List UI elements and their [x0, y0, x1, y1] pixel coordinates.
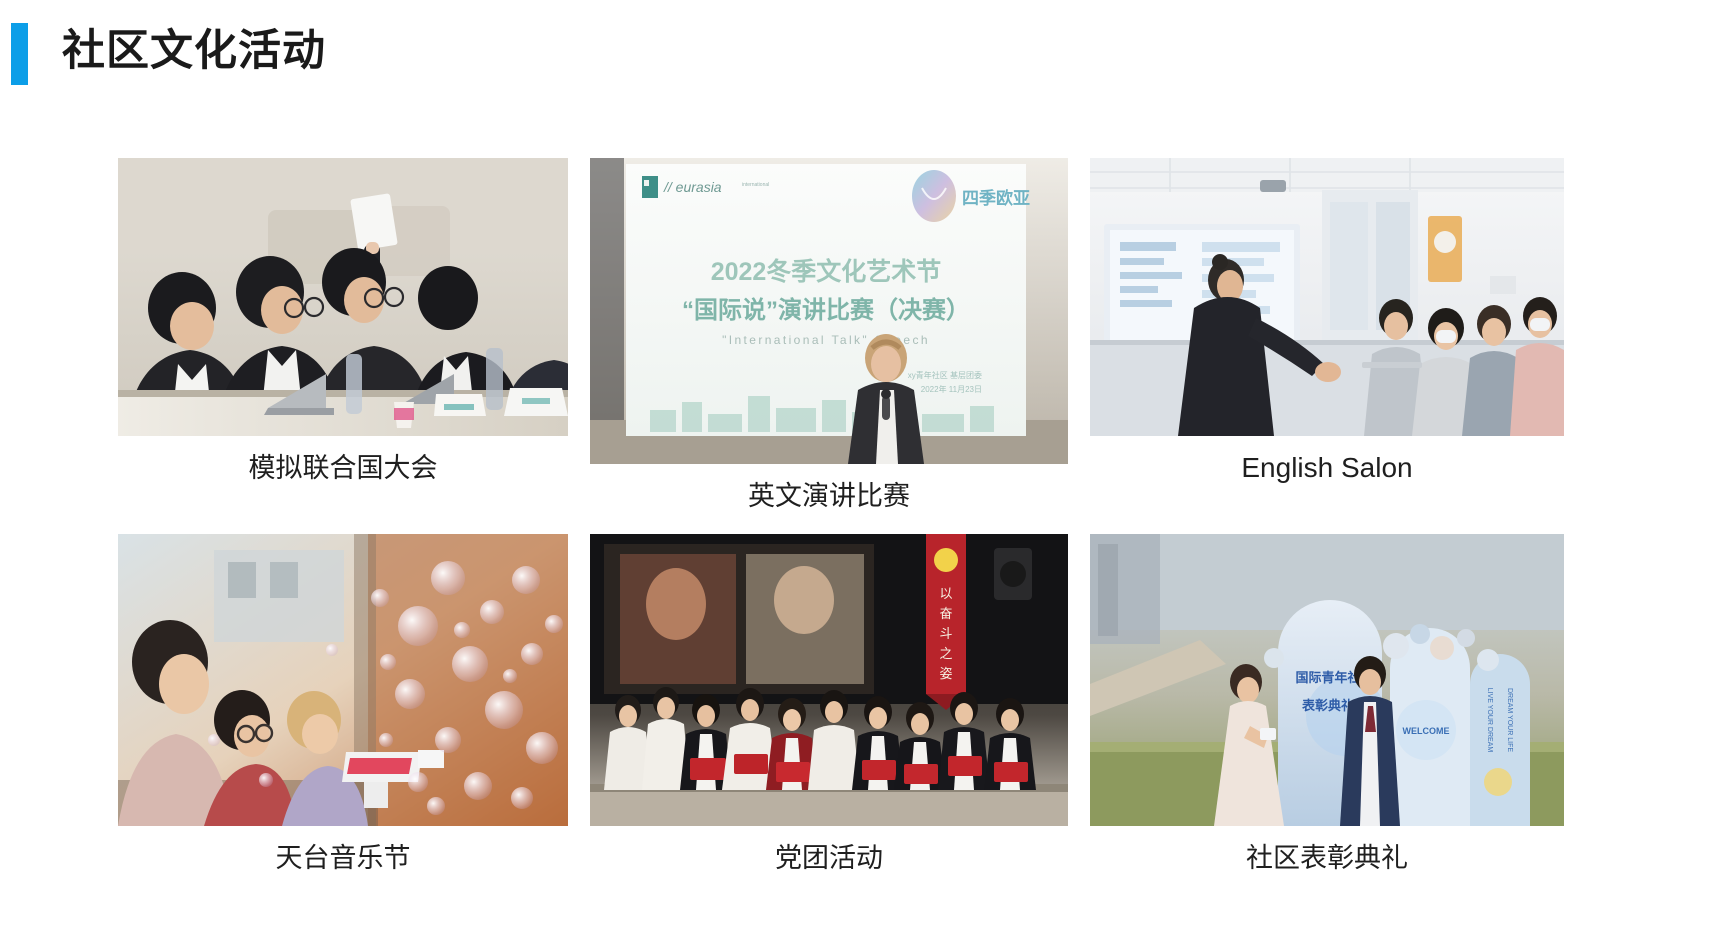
gallery-card-model-un[interactable]: 模拟联合国大会: [118, 158, 568, 516]
svg-text:DREAM YOUR LIFE: DREAM YOUR LIFE: [1506, 688, 1513, 752]
page-title: 社区文化活动: [62, 19, 326, 83]
gallery-card-rooftop-music-festival[interactable]: 天台音乐节: [118, 534, 568, 878]
caption-model-un: 模拟联合国大会: [249, 448, 438, 488]
photo-english-salon[interactable]: [1090, 158, 1564, 436]
svg-text:LIVE YOUR DREAM: LIVE YOUR DREAM: [1486, 688, 1493, 753]
caption-community-award-ceremony: 社区表彰典礼: [1246, 838, 1408, 878]
photo-model-un[interactable]: [118, 158, 568, 436]
gallery-card-community-award-ceremony[interactable]: 国际青年社 表彰典礼 WELCOME LIVE YOUR DREAM DREAM…: [1090, 534, 1564, 878]
gallery-card-party-league-activity[interactable]: 以奋 斗之姿: [590, 534, 1068, 878]
svg-text:2022年 11月23日: 2022年 11月23日: [921, 384, 982, 394]
caption-english-salon: English Salon: [1241, 448, 1412, 488]
svg-text:斗: 斗: [939, 626, 952, 641]
svg-text:国际青年社: 国际青年社: [1295, 670, 1360, 685]
photo-rooftop-music-festival[interactable]: [118, 534, 568, 826]
svg-text:以: 以: [939, 586, 952, 601]
svg-text:2022冬季文化艺术节: 2022冬季文化艺术节: [711, 257, 942, 286]
photo-gallery: 模拟联合国大会: [118, 158, 1598, 878]
svg-text:之: 之: [939, 646, 952, 661]
photo-party-league-activity[interactable]: 以奋 斗之姿: [590, 534, 1068, 826]
photo-english-speech[interactable]: // eurasia international 四季欧亚 2022冬季文化艺术…: [590, 158, 1068, 464]
title-accent-bar: [11, 23, 28, 85]
svg-text:WELCOME: WELCOME: [1403, 726, 1450, 736]
caption-english-speech: 英文演讲比赛: [748, 476, 910, 516]
caption-party-league-activity: 党团活动: [775, 838, 883, 878]
svg-text:姿: 姿: [939, 666, 952, 681]
gallery-card-english-speech[interactable]: // eurasia international 四季欧亚 2022冬季文化艺术…: [590, 158, 1068, 516]
caption-rooftop-music-festival: 天台音乐节: [276, 838, 411, 878]
photo-community-award-ceremony[interactable]: 国际青年社 表彰典礼 WELCOME LIVE YOUR DREAM DREAM…: [1090, 534, 1564, 826]
gallery-card-english-salon[interactable]: English Salon: [1090, 158, 1564, 516]
svg-text:international: international: [742, 182, 769, 188]
page-header: 社区文化活动: [0, 0, 1712, 120]
svg-text:xy青年社区 基层团委: xy青年社区 基层团委: [908, 370, 982, 380]
svg-text:奋: 奋: [939, 606, 952, 621]
svg-text:表彰典礼: 表彰典礼: [1301, 698, 1354, 713]
svg-text:// eurasia: // eurasia: [663, 179, 722, 195]
svg-text:四季欧亚: 四季欧亚: [962, 188, 1030, 208]
svg-text:“国际说”演讲比赛（决赛）: “国际说”演讲比赛（决赛）: [682, 296, 970, 324]
